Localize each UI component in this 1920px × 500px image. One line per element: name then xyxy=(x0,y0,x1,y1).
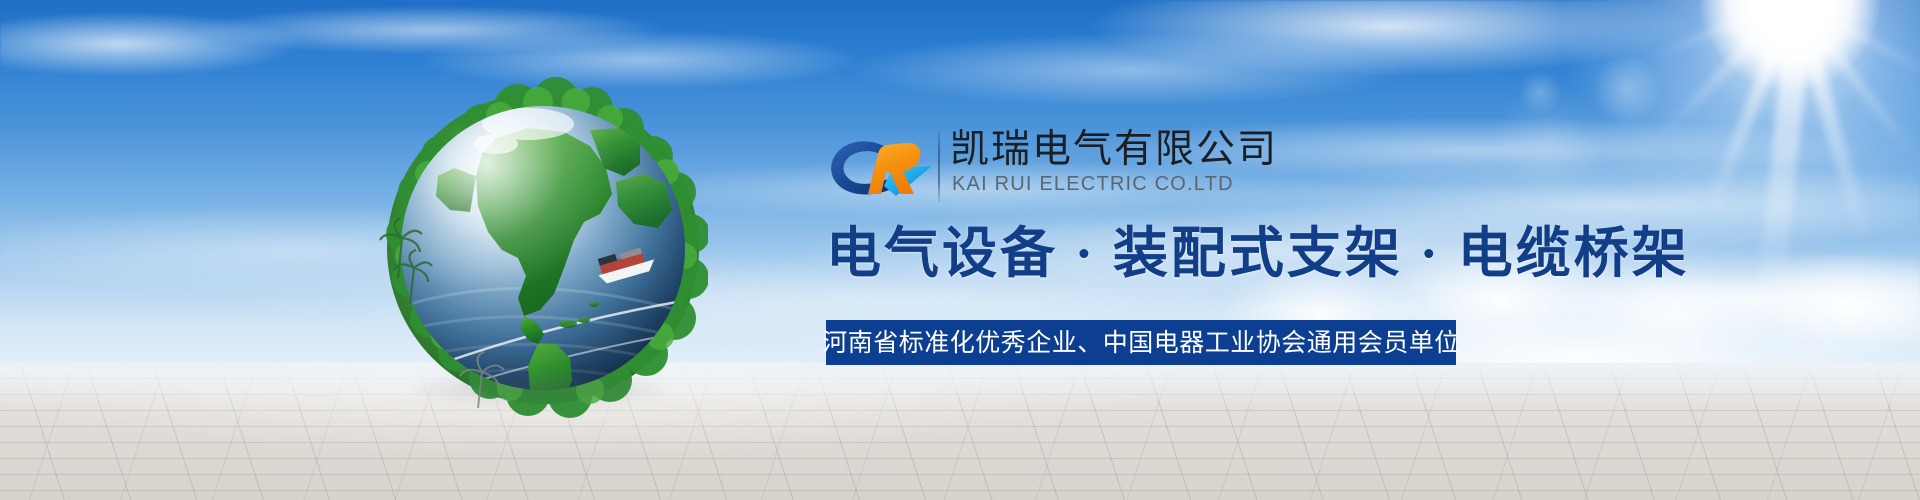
green-earth-globe-icon xyxy=(378,72,708,424)
company-name-en: KAI RUI ELECTRIC CO.LTD xyxy=(952,172,1234,196)
logo-divider xyxy=(938,130,940,202)
company-name-cn: 凯瑞电气有限公司 xyxy=(950,128,1278,172)
lens-flare-icon xyxy=(1518,70,1562,114)
slogan-text: 电气设备 · 装配式支架 · 电缆桥架 xyxy=(826,222,1690,286)
credential-ribbon-text: 河南省标准化优秀企业、中国电器工业协会通用会员单位 xyxy=(822,329,1460,357)
logo-svg xyxy=(826,124,938,208)
brand-block: 凯瑞电气有限公司 KAI RUI ELECTRIC CO.LTD xyxy=(826,112,1526,212)
horizon-haze xyxy=(0,363,1920,407)
hero-banner: 凯瑞电气有限公司 KAI RUI ELECTRIC CO.LTD 电气设备 · … xyxy=(0,0,1920,500)
credential-ribbon: 河南省标准化优秀企业、中国电器工业协会通用会员单位 xyxy=(826,320,1456,365)
pavement-ground xyxy=(0,363,1920,500)
lens-flare-icon xyxy=(1592,54,1662,124)
globe-shadow xyxy=(402,372,682,406)
kairui-cr-logo-mark xyxy=(826,124,938,208)
